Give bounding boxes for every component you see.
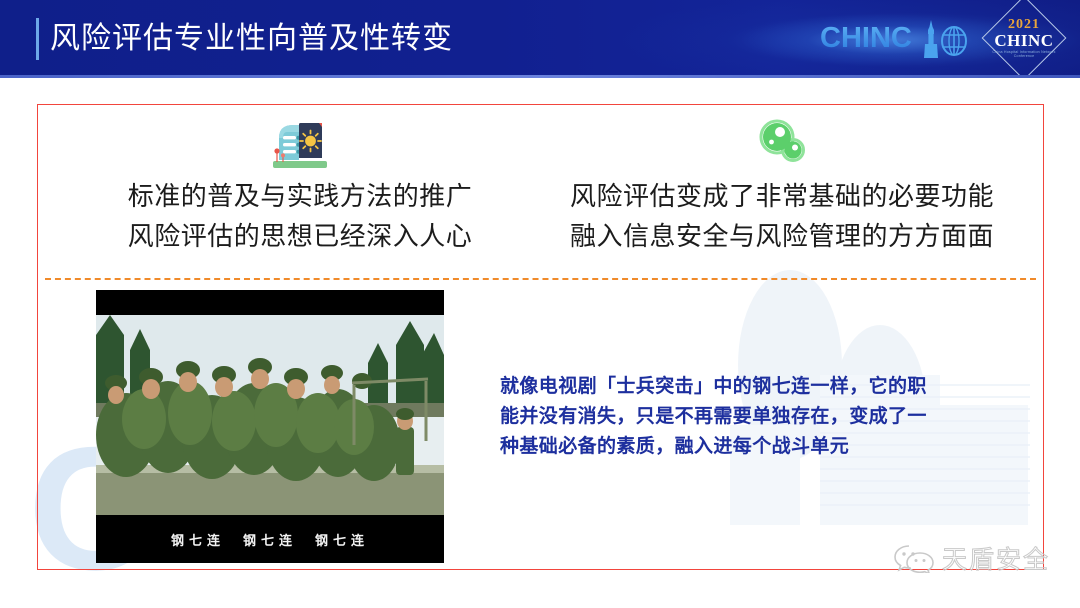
column-right-icon-wrap xyxy=(537,112,1027,174)
watermark-label: 天盾安全 xyxy=(942,540,1050,576)
title-accent-bar xyxy=(36,18,39,60)
wechat-icon xyxy=(893,543,935,573)
green-molecule-icon xyxy=(754,117,810,169)
photo-illustration xyxy=(96,315,444,515)
column-left-line-1: 标准的普及与实践方法的推广 xyxy=(55,176,545,216)
body-paragraph: 就像电视剧「士兵突击」中的钢七连一样，它的职 能并没有消失，只是不再需要单独存在… xyxy=(500,372,1000,462)
column-left-icon-wrap xyxy=(55,112,545,174)
wechat-watermark: 天盾安全 xyxy=(893,538,1068,578)
body-line-3: 种基础必备的素质，融入进每个战斗单元 xyxy=(500,432,1000,462)
photo-caption: 钢七连 钢七连 钢七连 xyxy=(96,530,444,549)
globe-icon xyxy=(940,26,968,56)
tower-icon xyxy=(923,20,939,58)
column-right-text: 风险评估变成了非常基础的必要功能 融入信息安全与风险管理的方方面面 xyxy=(537,176,1027,256)
body-line-1: 就像电视剧「士兵突击」中的钢七连一样，它的职 xyxy=(500,372,1000,402)
soldiers-photo: 钢七连 钢七连 钢七连 xyxy=(96,290,444,563)
head-learning-icon xyxy=(269,116,331,170)
column-right-line-1: 风险评估变成了非常基础的必要功能 xyxy=(537,176,1027,216)
top-columns: 标准的普及与实践方法的推广 风险评估的思想已经深入人心 xyxy=(37,106,1044,272)
chinc-logo: CHINC xyxy=(820,20,965,60)
badge-name: CHINC xyxy=(986,31,1062,51)
column-right-line-2: 融入信息安全与风险管理的方方面面 xyxy=(537,216,1027,256)
column-left-line-2: 风险评估的思想已经深入人心 xyxy=(55,216,545,256)
photo-image xyxy=(96,315,444,515)
body-line-2: 能并没有消失，只是不再需要单独存在，变成了一 xyxy=(500,402,1000,432)
column-right: 风险评估变成了非常基础的必要功能 融入信息安全与风险管理的方方面面 xyxy=(537,106,1027,272)
badge-subtitle: China Hospital Information Network Confe… xyxy=(986,50,1062,59)
slide-root: C xyxy=(0,0,1080,608)
chinc-2021-badge: 2021 CHINC China Hospital Information Ne… xyxy=(986,6,1062,74)
column-left-text: 标准的普及与实践方法的推广 风险评估的思想已经深入人心 xyxy=(55,176,545,256)
header-bar: 风险评估专业性向普及性转变 CHINC 2021 CHINC China Hos… xyxy=(0,0,1080,78)
chinc-wordmark: CHINC xyxy=(820,22,912,55)
column-left: 标准的普及与实践方法的推广 风险评估的思想已经深入人心 xyxy=(55,106,545,272)
section-divider xyxy=(45,278,1036,280)
page-title: 风险评估专业性向普及性转变 xyxy=(50,13,453,65)
